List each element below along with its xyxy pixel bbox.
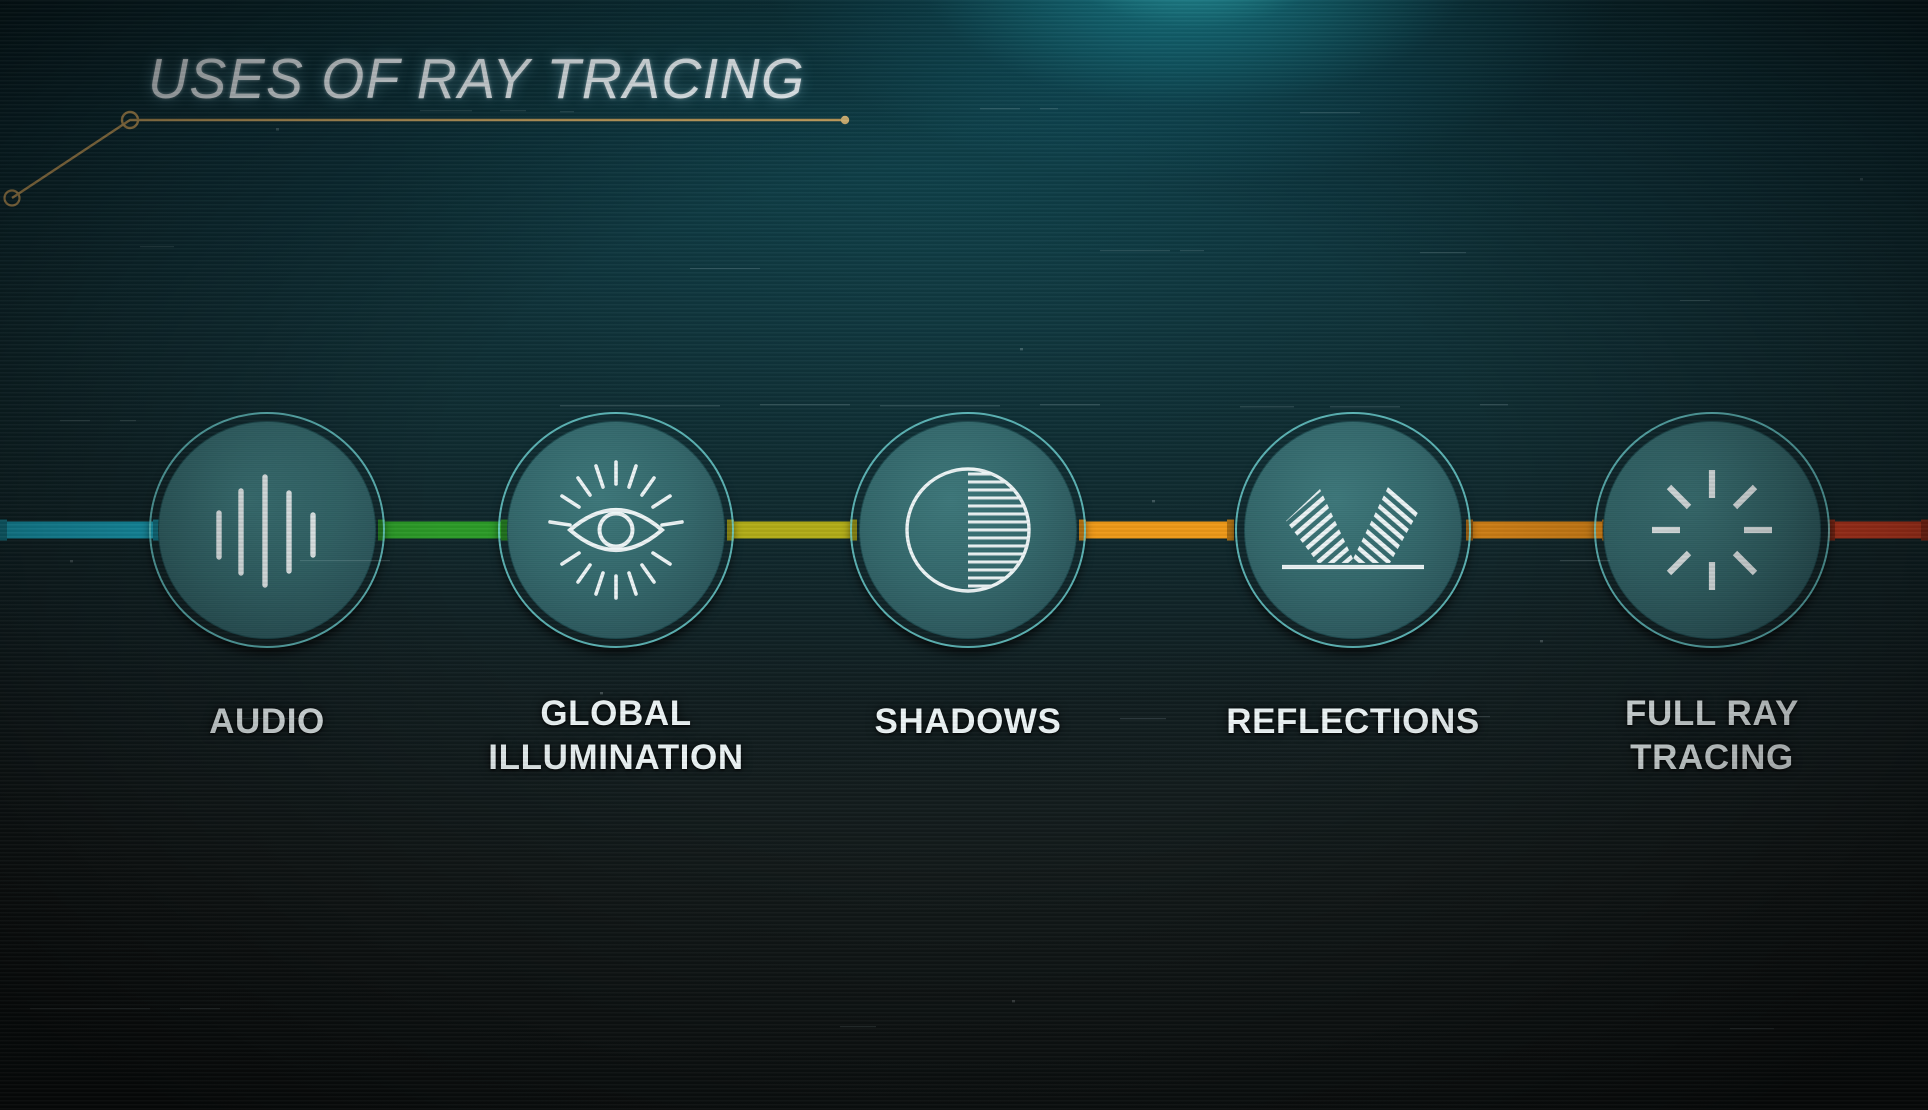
half-shaded-circle-icon <box>850 412 1086 648</box>
decor-node-end-icon <box>841 116 849 124</box>
decorative-connector-line <box>0 0 900 230</box>
connector-seg-end <box>1828 522 1928 539</box>
reflected-beams-icon <box>1235 412 1471 648</box>
connector-reflections-to-full <box>1466 522 1609 539</box>
timeline-node-shadows[interactable] <box>850 412 1086 648</box>
connector-audio-to-global <box>378 522 508 539</box>
label-shadows: SHADOWS <box>758 700 1178 744</box>
timeline-labels: AUDIO GLOBAL ILLUMINATION SHADOWS REFLEC… <box>0 700 1928 880</box>
label-reflections: REFLECTIONS <box>1143 700 1563 744</box>
radial-burst-icon <box>1594 412 1830 648</box>
audio-waveform-icon <box>149 412 385 648</box>
timeline-node-full-ray-tracing[interactable] <box>1594 412 1830 648</box>
timeline-node-global-illumination[interactable] <box>498 412 734 648</box>
timeline-node-reflections[interactable] <box>1235 412 1471 648</box>
radiant-eye-icon <box>498 412 734 648</box>
connector-shadows-to-reflections <box>1079 522 1234 539</box>
timeline <box>0 412 1928 692</box>
connector-seg-start <box>0 522 160 539</box>
connector-global-to-shadows <box>727 522 857 539</box>
label-full-ray-tracing: FULL RAY TRACING <box>1502 692 1922 780</box>
timeline-node-audio[interactable] <box>149 412 385 648</box>
slide-canvas: USES OF RAY TRACING <box>0 0 1928 1110</box>
